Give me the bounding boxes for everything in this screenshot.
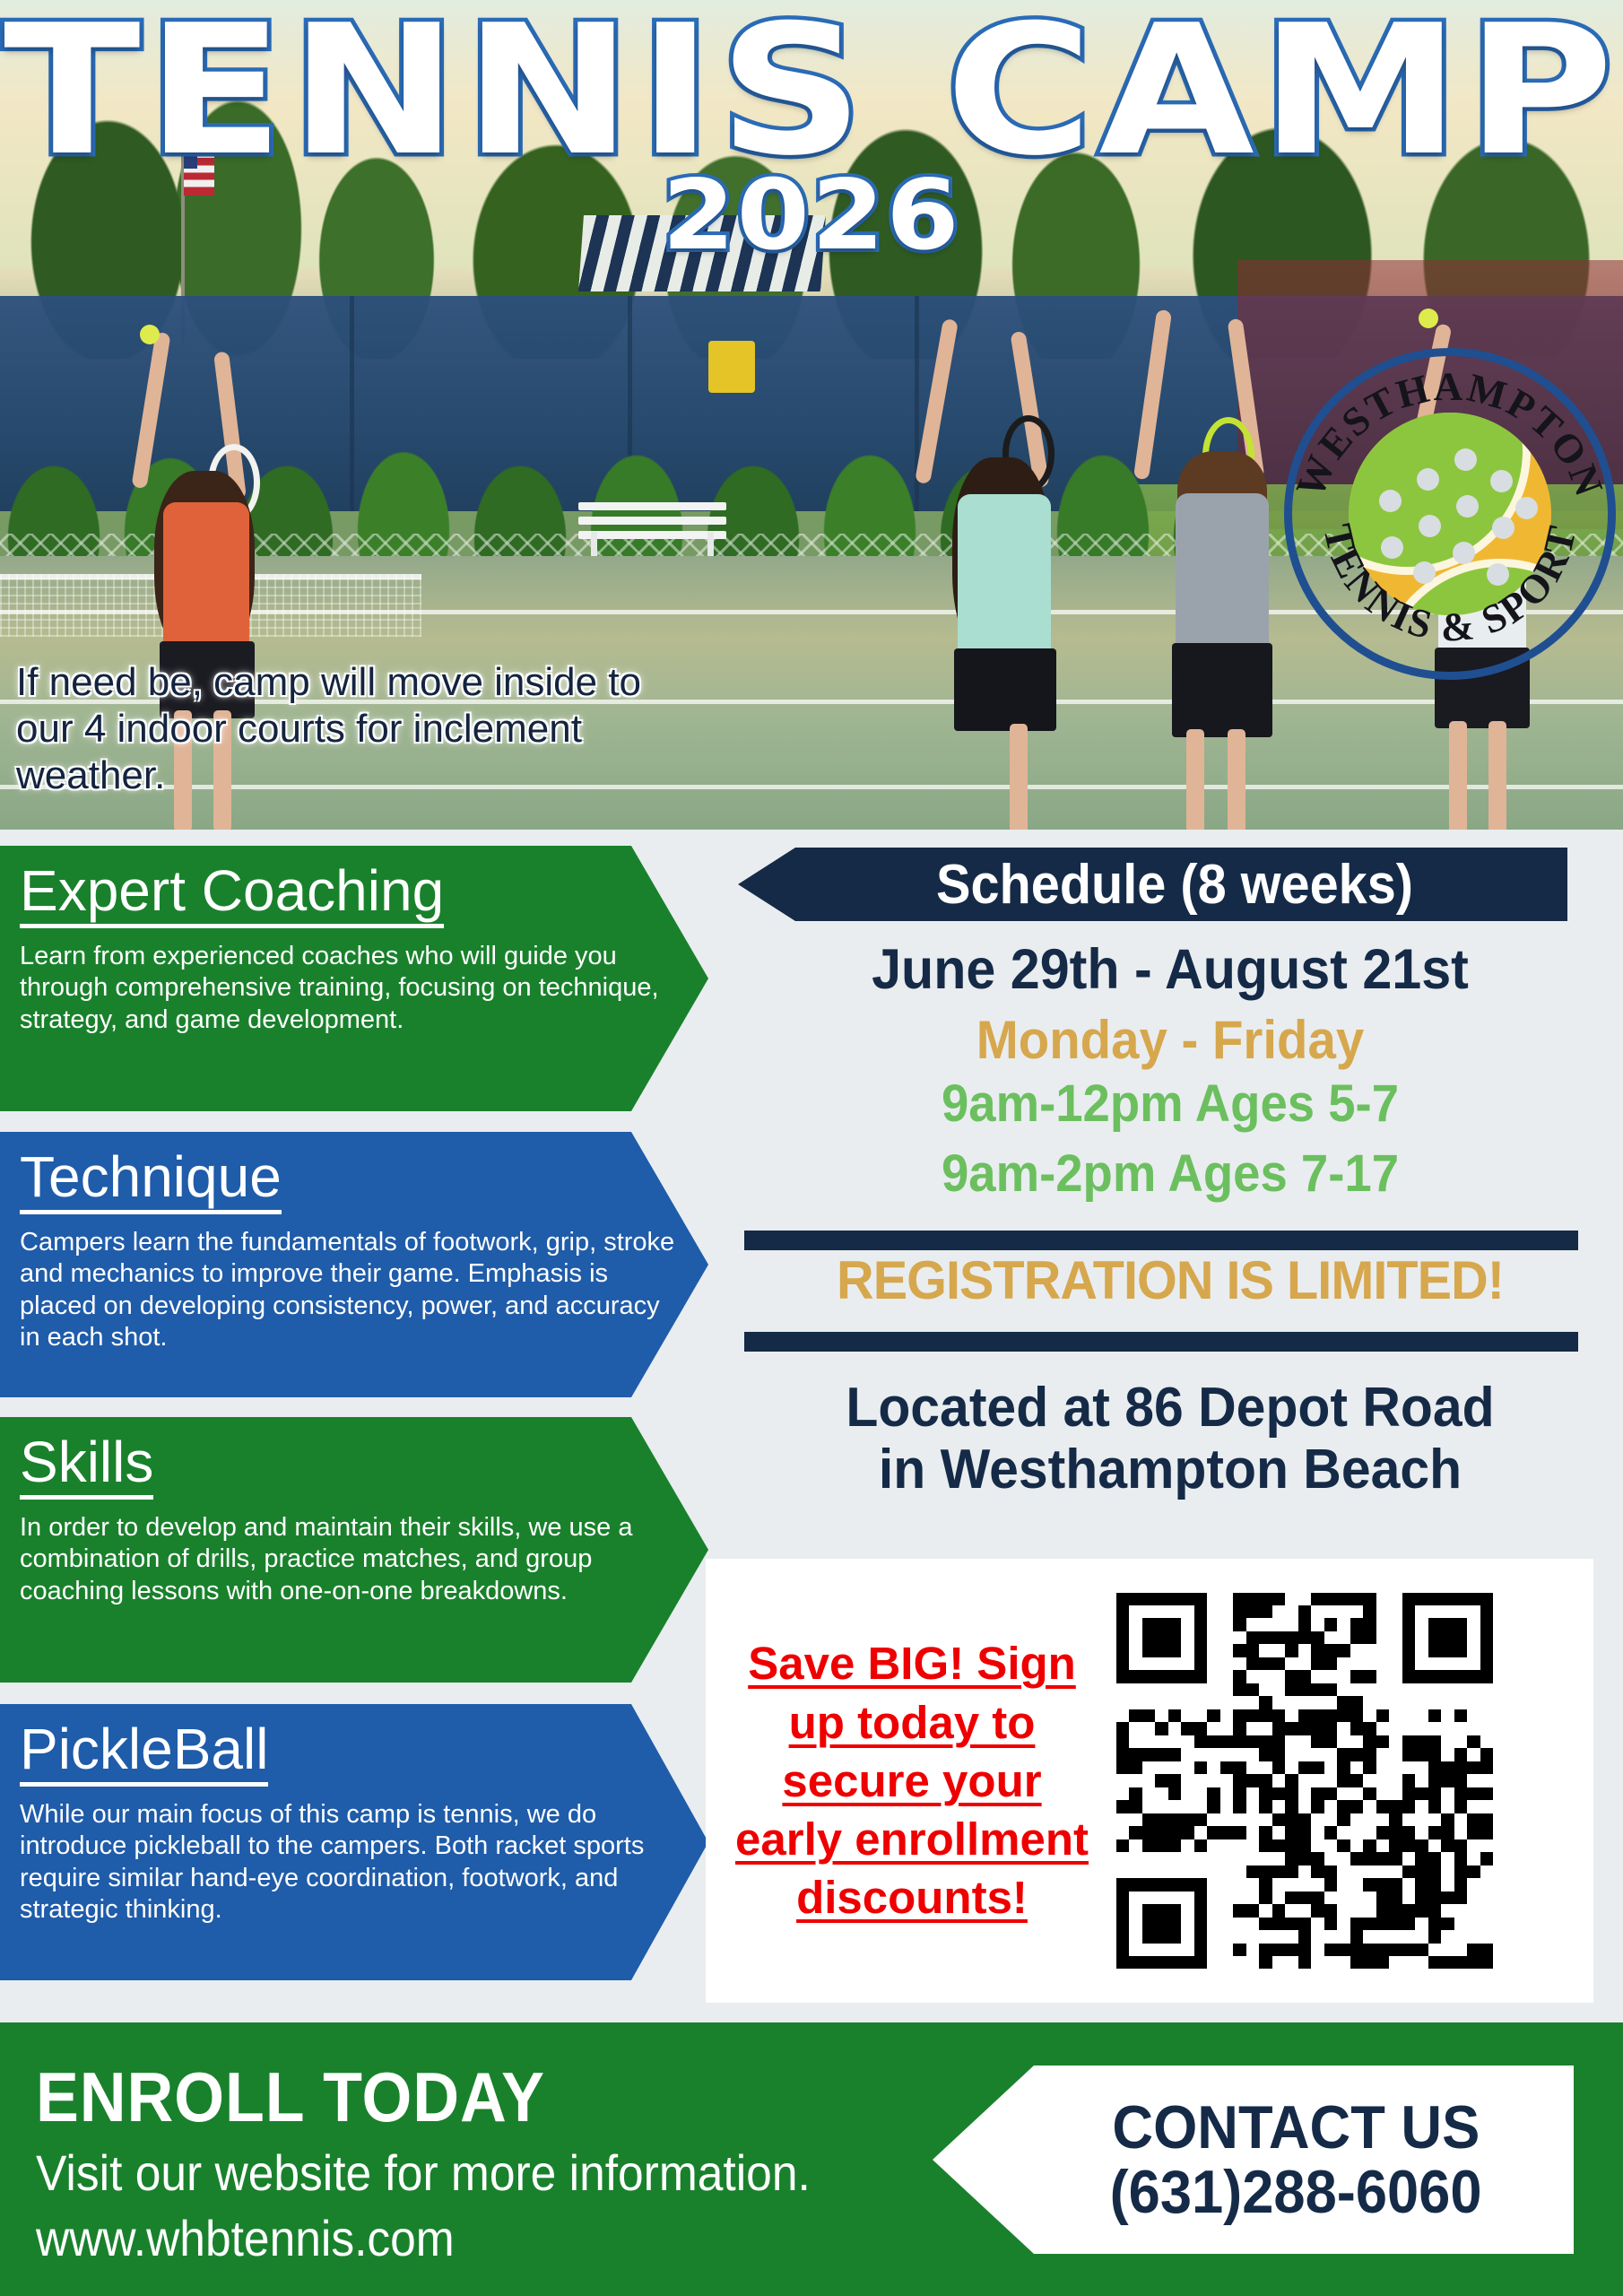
water-cooler: [708, 341, 755, 393]
feature-heading: Expert Coaching: [20, 862, 444, 928]
footer-enroll-bar: ENROLL TODAY Visit our website for more …: [0, 2022, 1623, 2296]
schedule-days: Monday - Friday: [744, 1009, 1595, 1071]
contact-us-box[interactable]: CONTACT US (631)288-6060: [933, 2066, 1574, 2254]
feature-banner-pickleball[interactable]: PickleBall While our main focus of this …: [0, 1704, 708, 1980]
divider-bar-top: [744, 1231, 1578, 1250]
phone-number[interactable]: (631)288-6060: [1110, 2160, 1482, 2224]
promo-line-5: discounts!: [796, 1872, 1028, 1923]
poster-title-block: TENNIS CAMP 2026: [0, 9, 1623, 272]
location-address: Located at 86 Depot Road in Westhampton …: [740, 1377, 1601, 1501]
inclement-weather-note: If need be, camp will move inside to our…: [16, 659, 680, 799]
qr-code[interactable]: [1116, 1593, 1493, 1970]
enroll-today-title: ENROLL TODAY: [36, 2057, 545, 2138]
feature-body: Campers learn the fundamentals of footwo…: [20, 1227, 685, 1354]
feature-heading: Skills: [20, 1433, 153, 1500]
svg-text:WESTHAMPTON: WESTHAMPTON: [1287, 364, 1612, 504]
feature-heading: PickleBall: [20, 1720, 268, 1787]
promo-line-3: secure your: [782, 1755, 1041, 1806]
feature-body: While our main focus of this camp is ten…: [20, 1799, 685, 1926]
schedule-dates: June 29th - August 21st: [744, 937, 1595, 1002]
feature-body: In order to develop and maintain their s…: [20, 1512, 685, 1607]
feature-banner-technique[interactable]: Technique Campers learn the fundamentals…: [0, 1132, 708, 1397]
feature-heading: Technique: [20, 1148, 282, 1214]
westhampton-tennis-sport-logo: WESTHAMPTON TENNIS & SPORT: [1284, 348, 1616, 680]
website-link[interactable]: www.whbtennis.com: [36, 2209, 455, 2267]
tennis-camp-flyer: TENNIS CAMP 2026 If need be, camp will m…: [0, 0, 1623, 2296]
schedule-session-2: 9am-2pm Ages 7-17: [744, 1144, 1595, 1204]
feature-banner-skills[interactable]: Skills In order to develop and maintain …: [0, 1417, 708, 1683]
location-line-1: Located at 86 Depot Road: [846, 1377, 1494, 1439]
player-serving-center: [897, 318, 1103, 830]
schedule-session-1: 9am-12pm Ages 5-7: [744, 1074, 1595, 1134]
divider-bar-bottom: [744, 1332, 1578, 1352]
contact-us-label: CONTACT US: [1112, 2095, 1480, 2160]
promo-text: Save BIG! Sign up today to secure your e…: [706, 1634, 1091, 1926]
promo-line-4: early enrollment: [735, 1813, 1089, 1865]
early-enrollment-promo-card: Save BIG! Sign up today to secure your e…: [706, 1559, 1593, 2003]
page-title: TENNIS CAMP: [0, 9, 1623, 174]
enroll-subtitle: Visit our website for more information.: [36, 2144, 811, 2202]
feature-banner-expert-coaching[interactable]: Expert Coaching Learn from experienced c…: [0, 846, 708, 1111]
logo-curved-text: WESTHAMPTON TENNIS & SPORT: [1284, 348, 1616, 680]
location-line-2: in Westhampton Beach: [879, 1439, 1462, 1500]
schedule-banner-label: Schedule (8 weeks): [937, 853, 1414, 917]
promo-line-2: up today to: [789, 1697, 1036, 1748]
page-title-year: 2026: [0, 160, 1623, 272]
svg-text:TENNIS & SPORT: TENNIS & SPORT: [1315, 520, 1585, 650]
schedule-banner: Schedule (8 weeks): [738, 848, 1567, 921]
registration-limited-notice: REGISTRATION IS LIMITED!: [735, 1249, 1605, 1311]
feature-body: Learn from experienced coaches who will …: [20, 941, 685, 1036]
promo-line-1: Save BIG! Sign: [748, 1638, 1076, 1689]
